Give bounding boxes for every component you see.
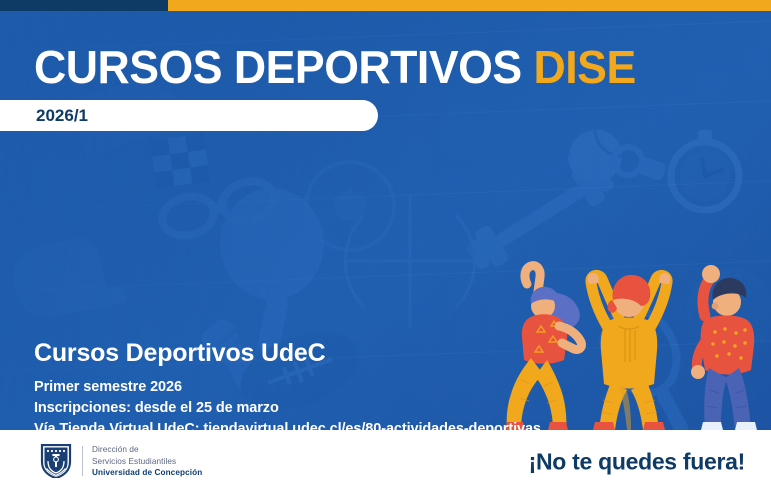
logo-text-block: Dirección de Servicios Estudiantiles Uni… bbox=[92, 444, 202, 479]
headline-accent: DISE bbox=[534, 41, 636, 93]
udec-crest-icon bbox=[40, 444, 72, 478]
poster-stage: CURSOS DEPORTIVOS DISE 2026/1 bbox=[0, 11, 771, 430]
term-badge-label: 2026/1 bbox=[36, 106, 88, 126]
logo-line-direction: Dirección de bbox=[92, 444, 202, 456]
navy-accent-segment bbox=[0, 0, 168, 11]
copy-line-semester: Primer semestre 2026 bbox=[34, 377, 541, 398]
footer-slogan: ¡No te quedes fuera! bbox=[529, 448, 745, 475]
udec-logo-lockup: Dirección de Servicios Estudiantiles Uni… bbox=[40, 444, 202, 479]
copy-line-store-url: Vía Tienda Virtual UdeC: tiendavirtual.u… bbox=[34, 419, 541, 430]
top-accent-bar bbox=[0, 0, 771, 11]
headline-main: CURSOS DEPORTIVOS bbox=[34, 41, 522, 93]
term-badge: 2026/1 bbox=[0, 100, 378, 131]
copy-block: Cursos Deportivos UdeC Primer semestre 2… bbox=[34, 339, 541, 430]
copy-title: Cursos Deportivos UdeC bbox=[34, 339, 541, 367]
logo-line-services: Servicios Estudiantiles bbox=[92, 456, 202, 468]
page-title: CURSOS DEPORTIVOS DISE bbox=[34, 44, 636, 90]
sports-courses-promo-poster: CURSOS DEPORTIVOS DISE 2026/1 bbox=[0, 0, 771, 493]
gold-accent-segment bbox=[168, 0, 771, 11]
copy-line-enrollment: Inscripciones: desde el 25 de marzo bbox=[34, 398, 541, 419]
logo-divider bbox=[82, 446, 83, 476]
logo-line-university: Universidad de Concepción bbox=[92, 467, 202, 479]
poster-footer: Dirección de Servicios Estudiantiles Uni… bbox=[0, 430, 771, 493]
